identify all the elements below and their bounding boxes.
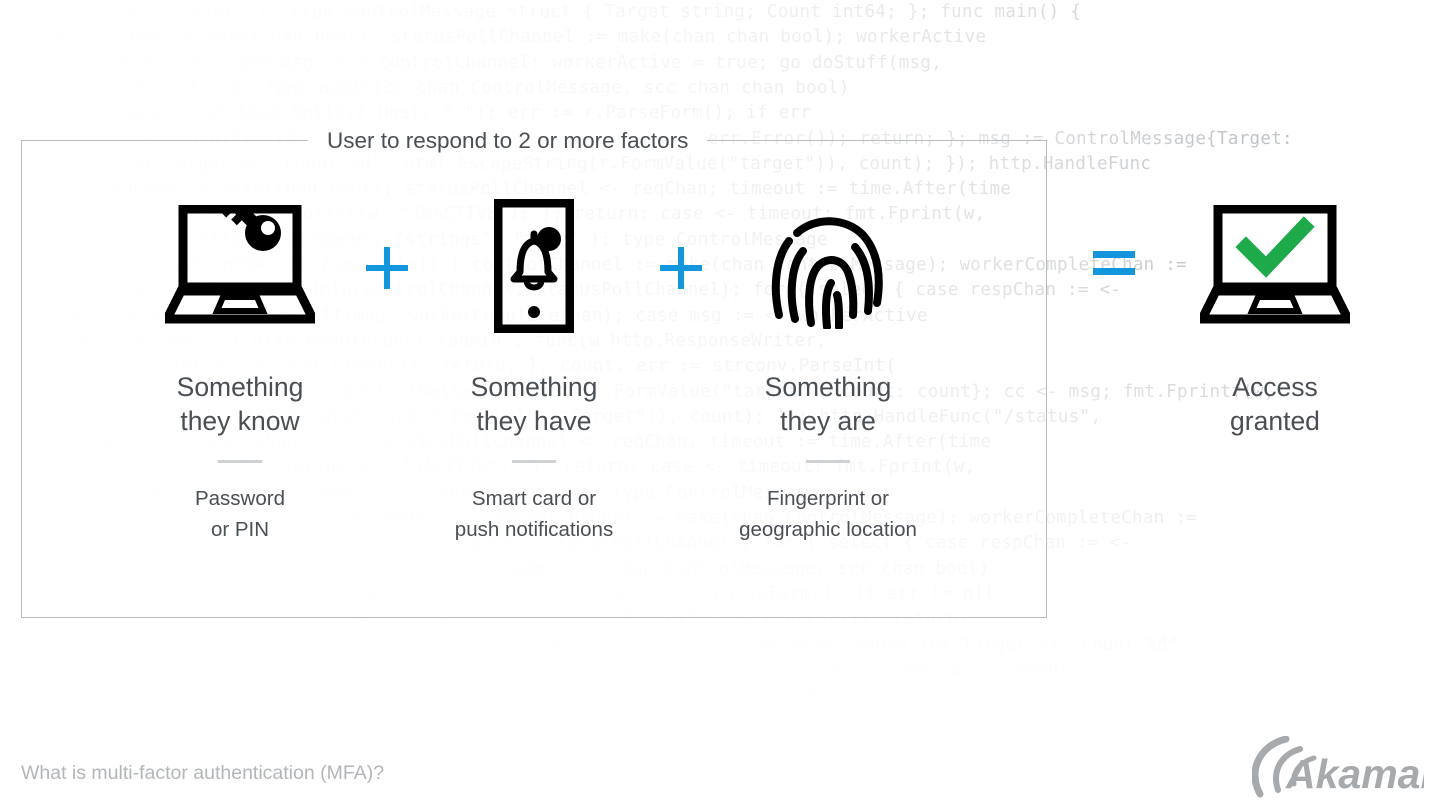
code-line: msg := ControlMessage{Target: r.FormValu… [0, 635, 1190, 655]
factor-divider [512, 460, 556, 463]
factor-title: Something they are [765, 370, 892, 438]
code-line: select { case result := <- reqChan: if r… [0, 685, 1025, 705]
code-line: import ( "fmt"; "net/http"; "strconv"; "… [0, 2, 1081, 22]
laptop-key-icon [165, 196, 315, 336]
result-access-granted: Access granted [1190, 196, 1360, 438]
factor-description: Fingerprint or geographic location [739, 483, 917, 545]
laptop-checkmark-icon [1200, 196, 1350, 336]
code-line: controlChannel := make(chan ControlMessa… [0, 27, 986, 47]
phone-bell-notification-icon [494, 196, 574, 336]
code-line: for { select { case respChan := <- statu… [0, 53, 942, 73]
code-line: workerCompleteChan); case status := <- w… [0, 78, 850, 98]
equals-operator [1092, 248, 1136, 283]
page-caption: What is multi-factor authentication (MFA… [21, 762, 384, 785]
factor-divider [218, 460, 262, 463]
fingerprint-icon [769, 196, 887, 336]
code-line: }); http.HandleFunc("/status", func(w ht… [0, 660, 1070, 680]
code-line: { http.HandleFunc("/admin", func(w http.… [0, 103, 811, 123]
factor-card-have: Something they have Smart card or push n… [415, 140, 653, 545]
plus-operator-1 [359, 140, 415, 340]
code-line: struct { Target string; Count int64; }; … [0, 736, 965, 756]
plus-operator-2 [653, 140, 709, 340]
code-line: log.Fatal(http.ListenAndServe(":1337", n… [0, 710, 868, 730]
akamai-wordmark: Akamai [1285, 751, 1424, 797]
plus-icon [365, 246, 409, 290]
factors-row: Something they know Password or PIN [21, 140, 1047, 618]
factor-description: Password or PIN [195, 483, 285, 545]
akamai-logo: Akamai [1252, 736, 1424, 805]
factor-divider [806, 460, 850, 463]
code-line: respChan <- workerActive; case msg := <-… [0, 786, 959, 806]
plus-icon [659, 246, 703, 290]
equals-icon [1092, 248, 1136, 278]
result-title: Access granted [1230, 370, 1320, 438]
factor-card-know: Something they know Password or PIN [121, 140, 359, 545]
factor-card-are: Something they are Fingerprint or geogra… [709, 140, 947, 545]
factor-description: Smart card or push notifications [455, 483, 613, 545]
factor-title: Something they have [471, 370, 598, 438]
factor-title: Something they know [177, 370, 304, 438]
